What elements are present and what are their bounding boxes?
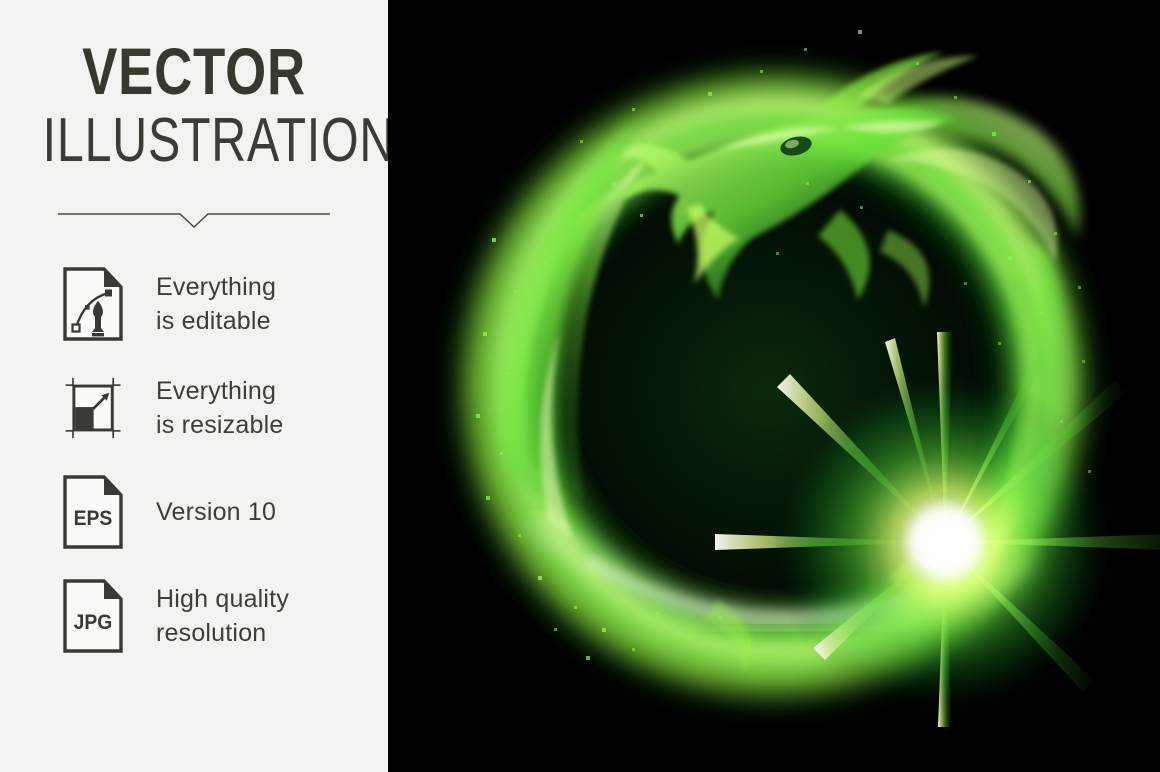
list-item-label: Everything is editable (156, 270, 276, 338)
list-item: EPS Version 10 (0, 460, 388, 564)
list-item-label: Everything is resizable (156, 374, 283, 442)
list-item-label: Version 10 (156, 495, 276, 529)
jpg-label: JPG (74, 611, 113, 634)
green-fire-dragon-ring-illustration (388, 0, 1160, 772)
list-item: Everything is editable (0, 252, 388, 356)
page-title: VECTOR ILLUSTRATION (0, 40, 388, 180)
list-item-label: High quality resolution (156, 582, 289, 650)
info-panel: VECTOR ILLUSTRATION (0, 0, 388, 772)
chevron-down-divider-icon (58, 206, 330, 232)
eps-label: EPS (74, 507, 113, 530)
poster-root: VECTOR ILLUSTRATION (0, 0, 1160, 772)
divider (58, 206, 330, 232)
list-item: JPG High quality resolution (0, 564, 388, 668)
resize-crop-marks-icon (62, 369, 126, 447)
list-item: Everything is resizable (0, 356, 388, 460)
title-line-secondary: ILLUSTRATION (43, 102, 346, 180)
eps-file-icon: EPS (62, 473, 126, 551)
jpg-file-icon: JPG (62, 577, 126, 655)
pen-tool-document-icon (62, 265, 126, 343)
artwork-panel (388, 0, 1160, 772)
title-line-primary: VECTOR (39, 40, 349, 102)
feature-list: Everything is editable (0, 252, 388, 668)
